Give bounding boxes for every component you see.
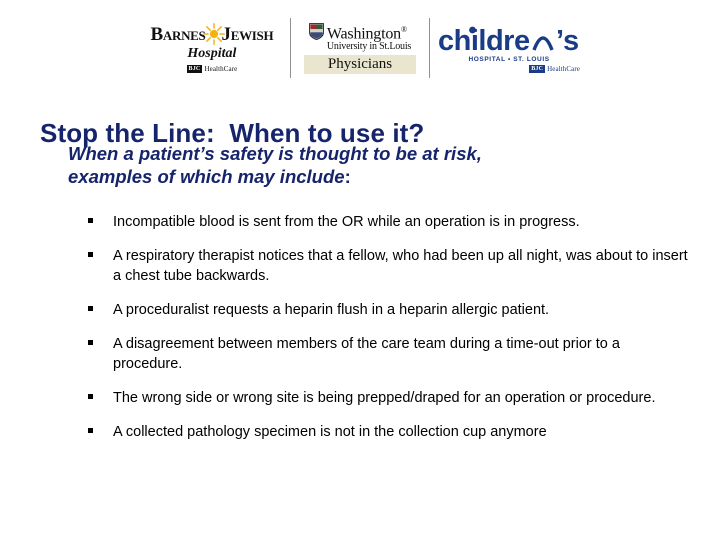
logo-divider-left	[290, 18, 291, 78]
bjc-box-label: BJC	[187, 65, 203, 73]
square-bullet-icon	[88, 422, 113, 433]
subtitle-line-1: When a patient’s safety is thought to be…	[68, 143, 482, 164]
list-item: A respiratory therapist notices that a f…	[88, 246, 692, 286]
jewish-word: Jewish	[222, 25, 274, 44]
childrens-bjc-box-label: BJC	[529, 65, 545, 73]
svg-text:’s: ’s	[556, 25, 579, 57]
square-bullet-icon	[88, 246, 113, 257]
subtitle-line-2: examples of which may include	[68, 166, 345, 187]
list-item-text: A disagreement between members of the ca…	[113, 334, 692, 374]
svg-text:childre: childre	[438, 25, 530, 57]
washington-line: Washington®	[327, 22, 411, 41]
square-bullet-icon	[88, 334, 113, 345]
square-bullet-icon	[88, 388, 113, 399]
bjc-healthcare-label: HealthCare	[204, 65, 237, 73]
list-item: A collected pathology specimen is not in…	[88, 422, 692, 442]
washington-university-wordmark: Washington® University in St.Louis	[309, 22, 411, 52]
slide-subtitle: When a patient’s safety is thought to be…	[68, 142, 588, 188]
list-item-text: A collected pathology specimen is not in…	[113, 422, 547, 442]
barnes-word: Barnes	[151, 25, 206, 44]
physicians-band: Physicians	[304, 55, 416, 74]
logo-st-louis-childrens-hospital: childre ’s HOSPITAL • ST. LOUIS BJC Heal…	[436, 16, 582, 80]
childrens-hospital-location-label: HOSPITAL • ST. LOUIS	[468, 56, 549, 63]
physicians-label: Physicians	[328, 56, 392, 72]
list-item: Incompatible blood is sent from the OR w…	[88, 212, 692, 232]
shield-crest-icon	[309, 23, 324, 45]
washington-university-names: Washington® University in St.Louis	[327, 22, 411, 52]
sun-burst-icon	[203, 23, 225, 45]
square-bullet-icon	[88, 300, 113, 311]
childrens-bjc-healthcare-mark: BJC HealthCare	[529, 65, 580, 73]
logo-divider-right	[429, 18, 430, 78]
list-item: A proceduralist requests a heparin flush…	[88, 300, 692, 320]
university-in-st-louis-line: University in St.Louis	[327, 41, 411, 52]
childrens-wordmark: childre ’s	[438, 23, 580, 57]
list-item: The wrong side or wrong site is being pr…	[88, 388, 692, 408]
list-item-text: A proceduralist requests a heparin flush…	[113, 300, 549, 320]
trademark-symbol: ®	[401, 25, 407, 34]
list-item-text: The wrong side or wrong site is being pr…	[113, 388, 655, 408]
square-bullet-icon	[88, 212, 113, 223]
logo-barnes-jewish-hospital: Barnes	[140, 16, 284, 80]
barnes-jewish-hospital-label: Hospital	[187, 46, 236, 61]
bullet-list: Incompatible blood is sent from the OR w…	[88, 212, 692, 456]
list-item-text: Incompatible blood is sent from the OR w…	[113, 212, 580, 232]
list-item-text: A respiratory therapist notices that a f…	[113, 246, 692, 286]
childrens-bjc-healthcare-label: HealthCare	[547, 65, 580, 73]
list-item: A disagreement between members of the ca…	[88, 334, 692, 374]
logo-band: Barnes	[140, 16, 582, 80]
bjc-healthcare-mark: BJC HealthCare	[187, 65, 238, 73]
barnes-jewish-wordmark: Barnes	[151, 23, 274, 45]
subtitle-colon: :	[345, 166, 351, 187]
logo-washington-university-physicians: Washington® University in St.Louis Physi…	[297, 16, 423, 80]
